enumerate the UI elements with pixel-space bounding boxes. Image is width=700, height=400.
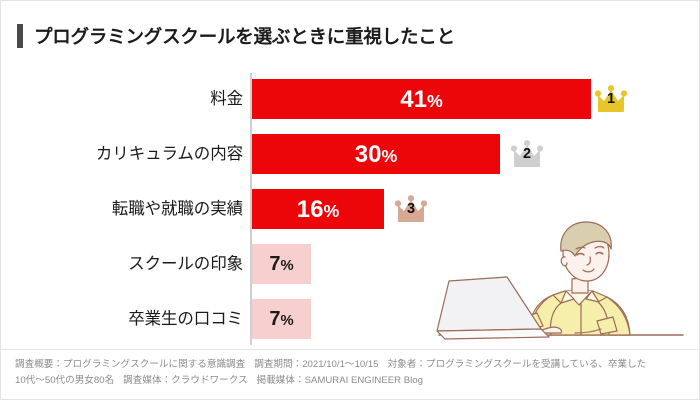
crown-rank-icon-3: 3 (394, 193, 428, 225)
category-label: 卒業生の口コミ (128, 299, 243, 339)
survey-medium: 調査媒体：クラウドワークス (123, 375, 247, 386)
page-title: プログラミングスクールを選ぶときに重視したこと (17, 23, 455, 49)
title-label: プログラミングスクールを選ぶときに重視したこと (34, 23, 455, 49)
person-using-laptop-illustration (433, 209, 689, 349)
chart-row: カリキュラムの内容 30% 2 (1, 134, 700, 174)
chart-row: 料金 41% 1 (1, 79, 700, 119)
bar-segment: 7% (252, 244, 311, 284)
survey-target-cont: 10代〜50代の男女80名 (15, 375, 114, 386)
bar-value-label: 30% (252, 134, 500, 174)
bar-segment: 7% (252, 299, 311, 339)
survey-period: 調査期間：2021/10/1〜10/15 (254, 359, 378, 370)
bar-value-label: 16% (252, 189, 384, 229)
survey-target: 対象者：プログラミングスクールを受講している、卒業した (388, 359, 647, 370)
infographic-card: プログラミングスクールを選ぶときに重視したこと 料金 41% 1 カリキュラムの (0, 0, 700, 400)
crown-rank-icon-2: 2 (510, 138, 544, 170)
survey-overview: 調査概要：プログラミングスクールに関する意識調査 (15, 359, 245, 370)
bar-segment: 30% (252, 134, 500, 174)
bar-segment: 16% (252, 189, 384, 229)
title-accent-bar (17, 24, 23, 48)
bar-value-label: 7% (252, 299, 311, 339)
crown-rank-number: 2 (510, 147, 544, 162)
category-label: スクールの印象 (128, 244, 243, 284)
bar-segment: 41% (252, 79, 591, 119)
publication-medium: 掲載媒体：SAMURAI ENGINEER Blog (257, 375, 423, 386)
bar-value-label: 41% (252, 79, 591, 119)
crown-rank-number: 3 (394, 202, 428, 217)
category-label: 料金 (210, 79, 243, 119)
bar-value-label: 7% (252, 244, 311, 284)
category-label: カリキュラムの内容 (96, 134, 243, 174)
category-label: 転職や就職の実績 (112, 189, 243, 229)
crown-rank-icon-1: 1 (594, 83, 628, 115)
survey-metadata-footer: 調査概要：プログラミングスクールに関する意識調査調査期間：2021/10/1〜1… (15, 357, 691, 389)
crown-rank-number: 1 (594, 92, 628, 107)
footer-divider (1, 349, 700, 350)
